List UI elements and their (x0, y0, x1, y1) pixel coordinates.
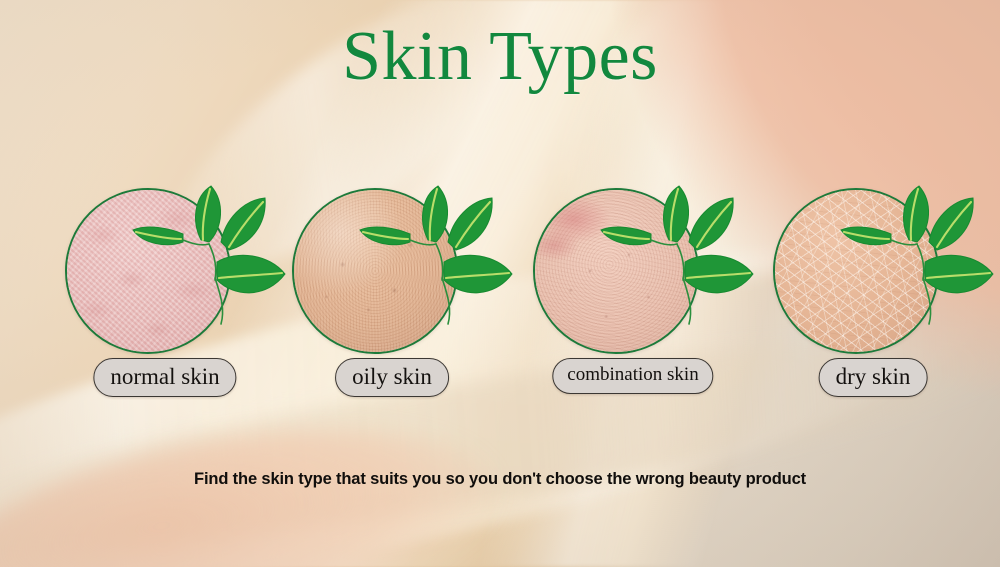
combination-skin-texture (535, 190, 697, 352)
dry-skin-texture (775, 190, 937, 352)
leaf-vein-up-right (697, 202, 731, 247)
oily-skin-texture (294, 190, 456, 352)
normal-skin-texture (67, 190, 229, 352)
skin-swatch-wrap-combination (533, 188, 699, 354)
page-title: Skin Types (0, 22, 1000, 92)
skin-swatch-circle-combination (533, 188, 699, 354)
skin-type-card-dry[interactable]: dry skin (753, 152, 993, 412)
leaf-vein-up-right (229, 202, 263, 247)
skin-swatch-wrap-oily (292, 188, 458, 354)
skin-type-card-combination[interactable]: combination skin (513, 152, 753, 412)
skin-type-label-normal[interactable]: normal skin (93, 358, 236, 397)
skin-types-poster: Skin Types (0, 0, 1000, 567)
skin-type-label-combination[interactable]: combination skin (552, 358, 713, 394)
skin-swatch-circle-dry (773, 188, 939, 354)
skin-type-card-oily[interactable]: oily skin (272, 152, 512, 412)
skin-swatch-circle-normal (65, 188, 231, 354)
poster-caption: Find the skin type that suits you so you… (0, 470, 1000, 489)
skin-swatch-circle-oily (292, 188, 458, 354)
skin-swatch-wrap-dry (773, 188, 939, 354)
skin-type-card-normal[interactable]: normal skin (45, 152, 285, 412)
skin-type-label-oily[interactable]: oily skin (335, 358, 449, 397)
skin-type-label-dry[interactable]: dry skin (819, 358, 928, 397)
leaf-vein-up-right (937, 202, 971, 247)
skin-swatch-wrap-normal (65, 188, 231, 354)
leaf-vein-up-right (456, 202, 490, 247)
skin-type-card-row: normal skin (0, 152, 1000, 412)
